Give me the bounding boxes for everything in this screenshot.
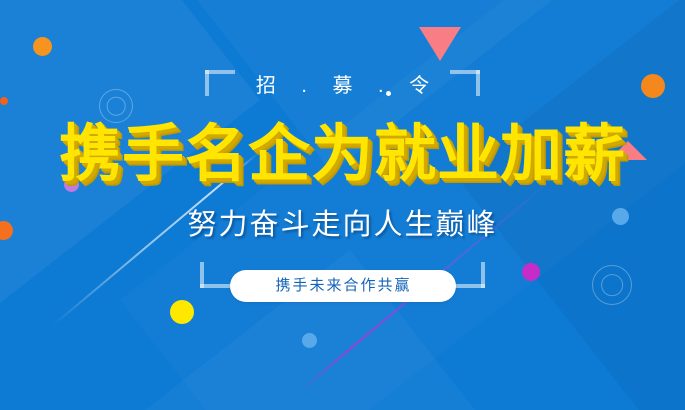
bracket-bottom-right (455, 262, 485, 288)
eyebrow-text: 招 . 募 . 令 (0, 72, 685, 100)
page-title: 携手名企为就业加薪 (0, 118, 685, 192)
ring-bottom-right (592, 265, 632, 305)
bracket-bottom-left (200, 262, 230, 288)
subtitle-text: 努力奋斗走向人生巅峰 (0, 205, 685, 245)
promo-banner: 招 . 募 . 令 携手名企为就业加薪 努力奋斗走向人生巅峰 携手未来合作共赢 (0, 0, 685, 410)
yellow-dot-left (170, 300, 194, 324)
magenta-dot-right (522, 263, 540, 281)
cta-pill-button[interactable]: 携手未来合作共赢 (229, 270, 455, 302)
pink-triangle-down-icon (419, 27, 461, 61)
orange-dot-large-top-left (33, 37, 52, 56)
lightblue-dot-center (302, 333, 317, 348)
